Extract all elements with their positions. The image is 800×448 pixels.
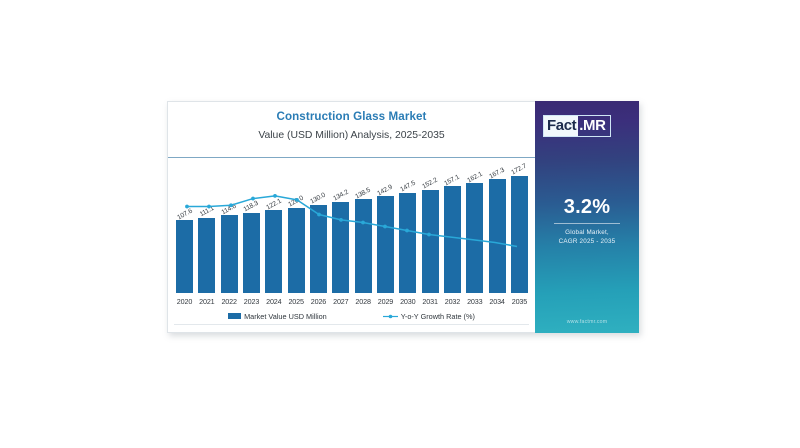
bar-slot: 134.2 (332, 160, 349, 293)
bar-slot: 167.3 (489, 160, 506, 293)
x-axis-tick: 2033 (466, 297, 483, 306)
legend-item-growth-rate: Y-o-Y Growth Rate (%) (383, 312, 475, 321)
bar (377, 196, 394, 293)
x-axis-tick: 2034 (489, 297, 506, 306)
bar (332, 202, 349, 293)
x-axis-tick: 2029 (377, 297, 394, 306)
bar (288, 208, 305, 294)
x-axis-tick: 2024 (265, 297, 282, 306)
x-axis-tick: 2022 (221, 297, 238, 306)
bar-slot: 152.2 (422, 160, 439, 293)
bar (489, 179, 506, 293)
cagr-value: 3.2% (535, 196, 639, 219)
bar-swatch-icon (228, 313, 241, 319)
x-axis-labels: 2020202120222023202420252026202720282029… (176, 294, 528, 308)
bar (422, 190, 439, 293)
bar-series: 107.6111.1114.6118.3122.1126.0130.0134.2… (176, 160, 528, 293)
bar-slot: 126.0 (288, 160, 305, 293)
cagr-caption: Global Market, CAGR 2025 - 2035 (535, 228, 639, 246)
factmr-logo: Fact .MR (543, 115, 611, 137)
cagr-divider (554, 223, 620, 224)
bar (466, 183, 483, 293)
bar (221, 215, 238, 293)
bar (265, 210, 282, 293)
bar (176, 220, 193, 293)
legend-item-market-value: Market Value USD Million (228, 312, 327, 321)
bar-slot: 122.1 (265, 160, 282, 293)
x-axis-tick: 2020 (176, 297, 193, 306)
chart-card: Construction Glass Market Value (USD Mil… (167, 101, 535, 333)
bar (399, 193, 416, 293)
x-axis-tick: 2026 (310, 297, 327, 306)
x-axis-tick: 2021 (198, 297, 215, 306)
plot-area: 107.6111.1114.6118.3122.1126.0130.0134.2… (176, 160, 528, 293)
bar-slot: 111.1 (198, 160, 215, 293)
bar-slot: 147.5 (399, 160, 416, 293)
bar-slot: 118.3 (243, 160, 260, 293)
line-swatch-icon (383, 313, 398, 320)
bar-slot: 157.1 (444, 160, 461, 293)
bar (444, 186, 461, 293)
chart-header: Construction Glass Market Value (USD Mil… (168, 102, 535, 158)
logo-text-fact: Fact (544, 116, 578, 136)
x-axis-tick: 2027 (332, 297, 349, 306)
bar (310, 205, 327, 293)
x-axis-tick: 2028 (355, 297, 372, 306)
brand-side-panel: Fact .MR 3.2% Global Market, CAGR 2025 -… (535, 101, 639, 333)
bar-slot: 142.9 (377, 160, 394, 293)
chart-subtitle: Value (USD Million) Analysis, 2025-2035 (168, 127, 535, 144)
legend-label-market-value: Market Value USD Million (244, 312, 327, 321)
screenshot-canvas: Construction Glass Market Value (USD Mil… (0, 0, 800, 448)
bar (198, 218, 215, 293)
legend-label-growth-rate: Y-o-Y Growth Rate (%) (401, 312, 475, 321)
site-url: www.factmr.com (535, 319, 639, 325)
x-axis-tick: 2031 (422, 297, 439, 306)
bar-slot: 172.7 (511, 160, 528, 293)
bar-slot: 107.6 (176, 160, 193, 293)
cagr-caption-line-1: Global Market, (535, 228, 639, 237)
chart-title: Construction Glass Market (168, 109, 535, 125)
legend-divider (174, 324, 529, 325)
bar-slot: 114.6 (221, 160, 238, 293)
x-axis-tick: 2023 (243, 297, 260, 306)
bar (355, 199, 372, 293)
bar (243, 213, 260, 293)
infographic-card: Construction Glass Market Value (USD Mil… (167, 101, 639, 333)
x-axis-tick: 2025 (288, 297, 305, 306)
x-axis-tick: 2032 (444, 297, 461, 306)
bar-slot: 130.0 (310, 160, 327, 293)
x-axis-tick: 2030 (399, 297, 416, 306)
cagr-caption-line-2: CAGR 2025 - 2035 (535, 237, 639, 246)
bar (511, 176, 528, 293)
logo-text-mr: .MR (578, 116, 609, 136)
x-axis-tick: 2035 (511, 297, 528, 306)
chart-legend: Market Value USD Million Y-o-Y Growth Ra… (168, 309, 535, 323)
bar-slot: 138.5 (355, 160, 372, 293)
